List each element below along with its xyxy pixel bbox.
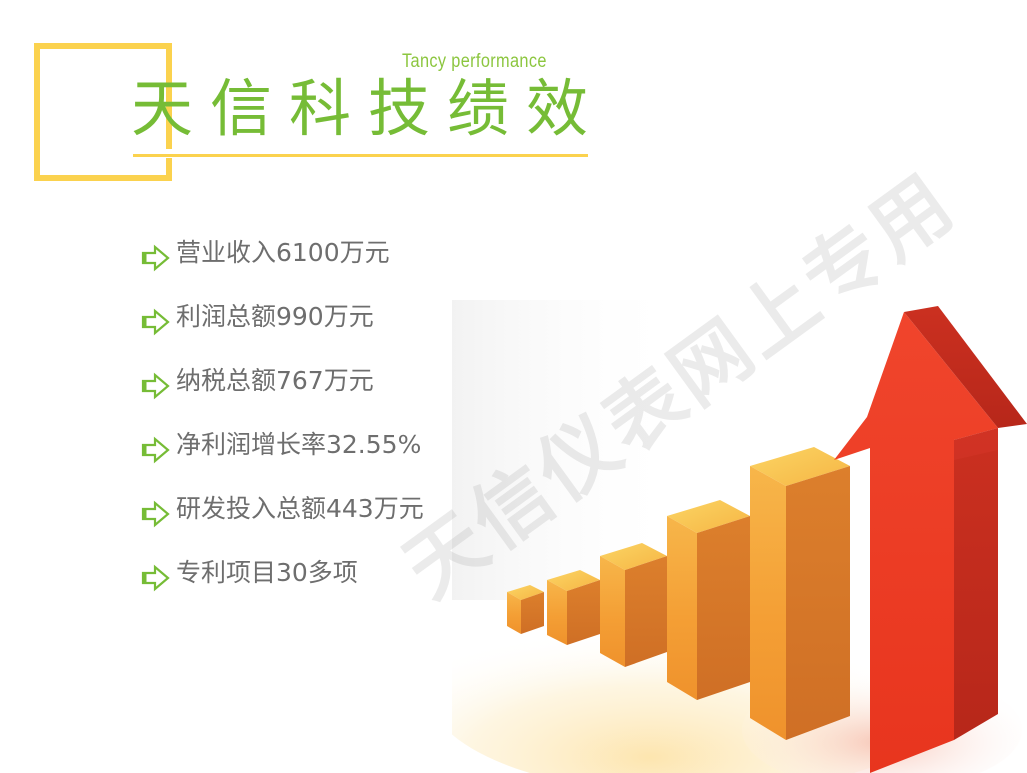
header: Tancy performance 天信科技绩效 <box>0 0 660 200</box>
bar-4 <box>667 500 750 700</box>
list-item-label: 研发投入总额443万元 <box>176 494 424 524</box>
subtitle-english: Tancy performance <box>402 52 547 71</box>
arrow-right-outline-icon <box>140 499 176 529</box>
arrow-right-outline-icon <box>140 563 176 593</box>
list-item-label: 专利项目30多项 <box>176 558 358 588</box>
growth-chart-illustration <box>452 300 1027 773</box>
title-underline <box>133 154 588 157</box>
bar-3 <box>600 543 667 667</box>
bar-2 <box>547 570 600 645</box>
page-title: 天信科技绩效 <box>131 70 605 148</box>
list-item-label: 净利润增长率32.55% <box>176 430 421 460</box>
bar-1 <box>507 585 544 634</box>
arrow-right-outline-icon <box>140 435 176 465</box>
slide-canvas: Tancy performance 天信科技绩效 营业收入6100万元 利润总额… <box>0 0 1027 773</box>
list-item-label: 利润总额990万元 <box>176 302 374 332</box>
bar-5 <box>750 447 850 740</box>
list-item-label: 营业收入6100万元 <box>176 238 390 268</box>
arrow-right-outline-icon <box>140 371 176 401</box>
arrow-right-outline-icon <box>140 307 176 337</box>
list-item-label: 纳税总额767万元 <box>176 366 374 396</box>
list-item: 营业收入6100万元 <box>140 238 560 302</box>
arrow-right-outline-icon <box>140 243 176 273</box>
